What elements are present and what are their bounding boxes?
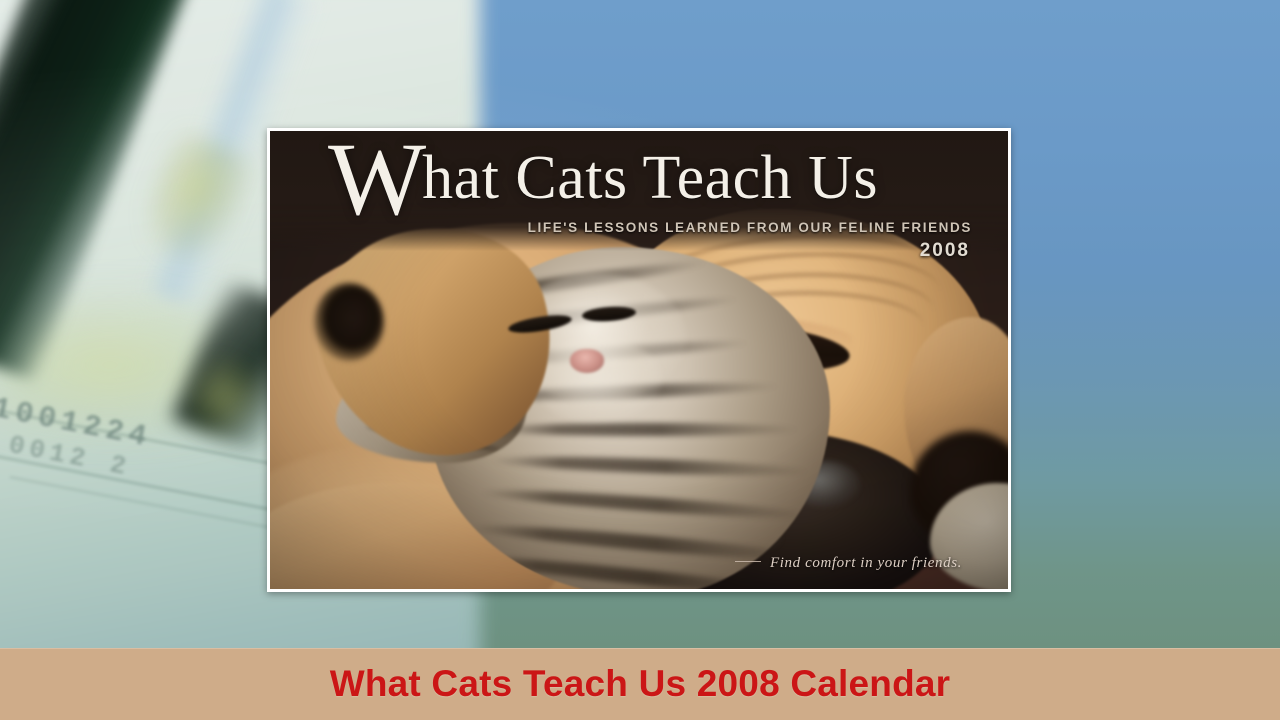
cover-title-band: [270, 131, 1008, 251]
kitten-nose: [570, 349, 604, 373]
caption-bar: What Cats Teach Us 2008 Calendar: [0, 648, 1280, 720]
product-title: What Cats Teach Us 2008 Calendar: [330, 663, 951, 705]
calendar-cover-image: What Cats Teach Us LIFE'S LESSONS LEARNE…: [267, 128, 1011, 592]
dog-draped-ear-shadow: [314, 283, 384, 361]
product-image-page: 1001224 0012 2: [0, 0, 1280, 720]
calendar-cover-photo: What Cats Teach Us LIFE'S LESSONS LEARNE…: [270, 131, 1008, 589]
